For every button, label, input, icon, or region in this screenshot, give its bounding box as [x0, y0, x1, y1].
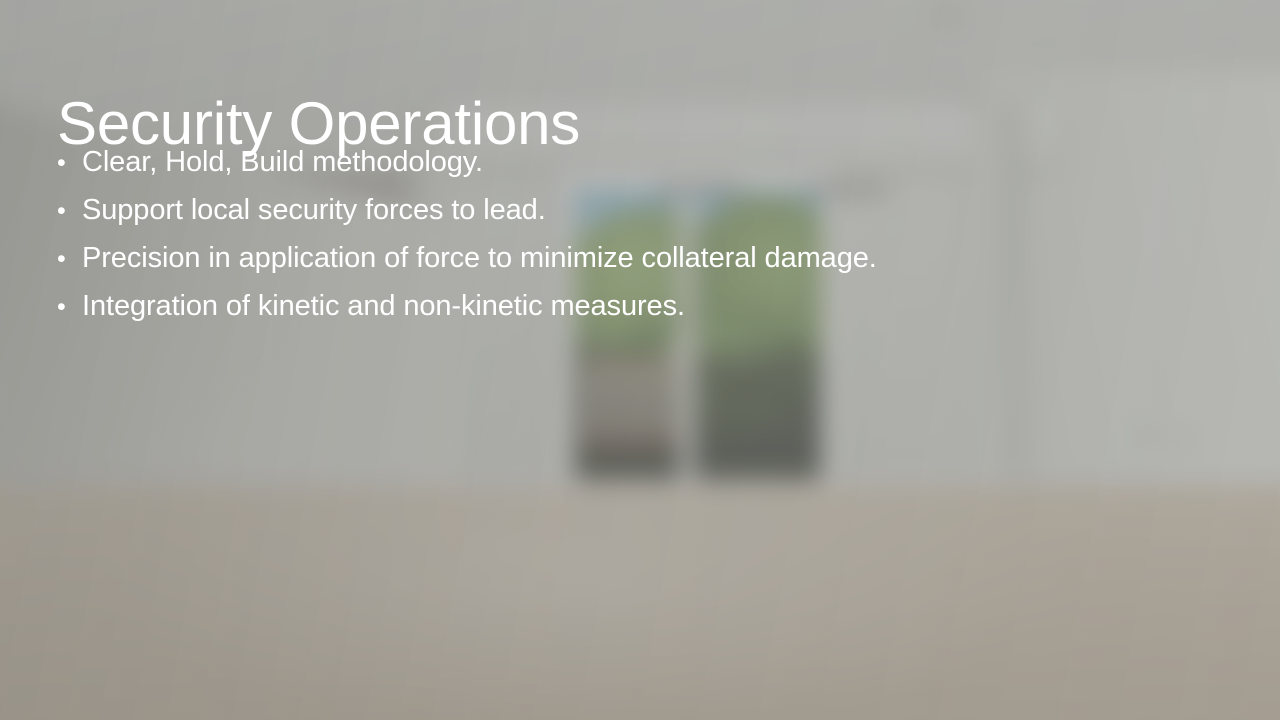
bullet-point-icon: • [57, 247, 82, 272]
bullet-point-icon: • [57, 199, 82, 224]
list-item: • Clear, Hold, Build methodology. [57, 146, 1237, 194]
list-item-label: Integration of kinetic and non-kinetic m… [82, 290, 685, 323]
bullet-list: • Clear, Hold, Build methodology. • Supp… [57, 146, 1237, 338]
list-item-label: Support local security forces to lead. [82, 194, 546, 227]
bullet-point-icon: • [57, 295, 82, 320]
list-item: • Integration of kinetic and non-kinetic… [57, 290, 1237, 338]
bullet-point-icon: • [57, 151, 82, 176]
list-item: • Precision in application of force to m… [57, 242, 1237, 290]
slide-content: Security Operations • Clear, Hold, Build… [0, 0, 1280, 720]
list-item-label: Clear, Hold, Build methodology. [82, 146, 483, 179]
list-item: • Support local security forces to lead. [57, 194, 1237, 242]
presentation-slide: Security Operations • Clear, Hold, Build… [0, 0, 1280, 720]
list-item-label: Precision in application of force to min… [82, 242, 877, 275]
